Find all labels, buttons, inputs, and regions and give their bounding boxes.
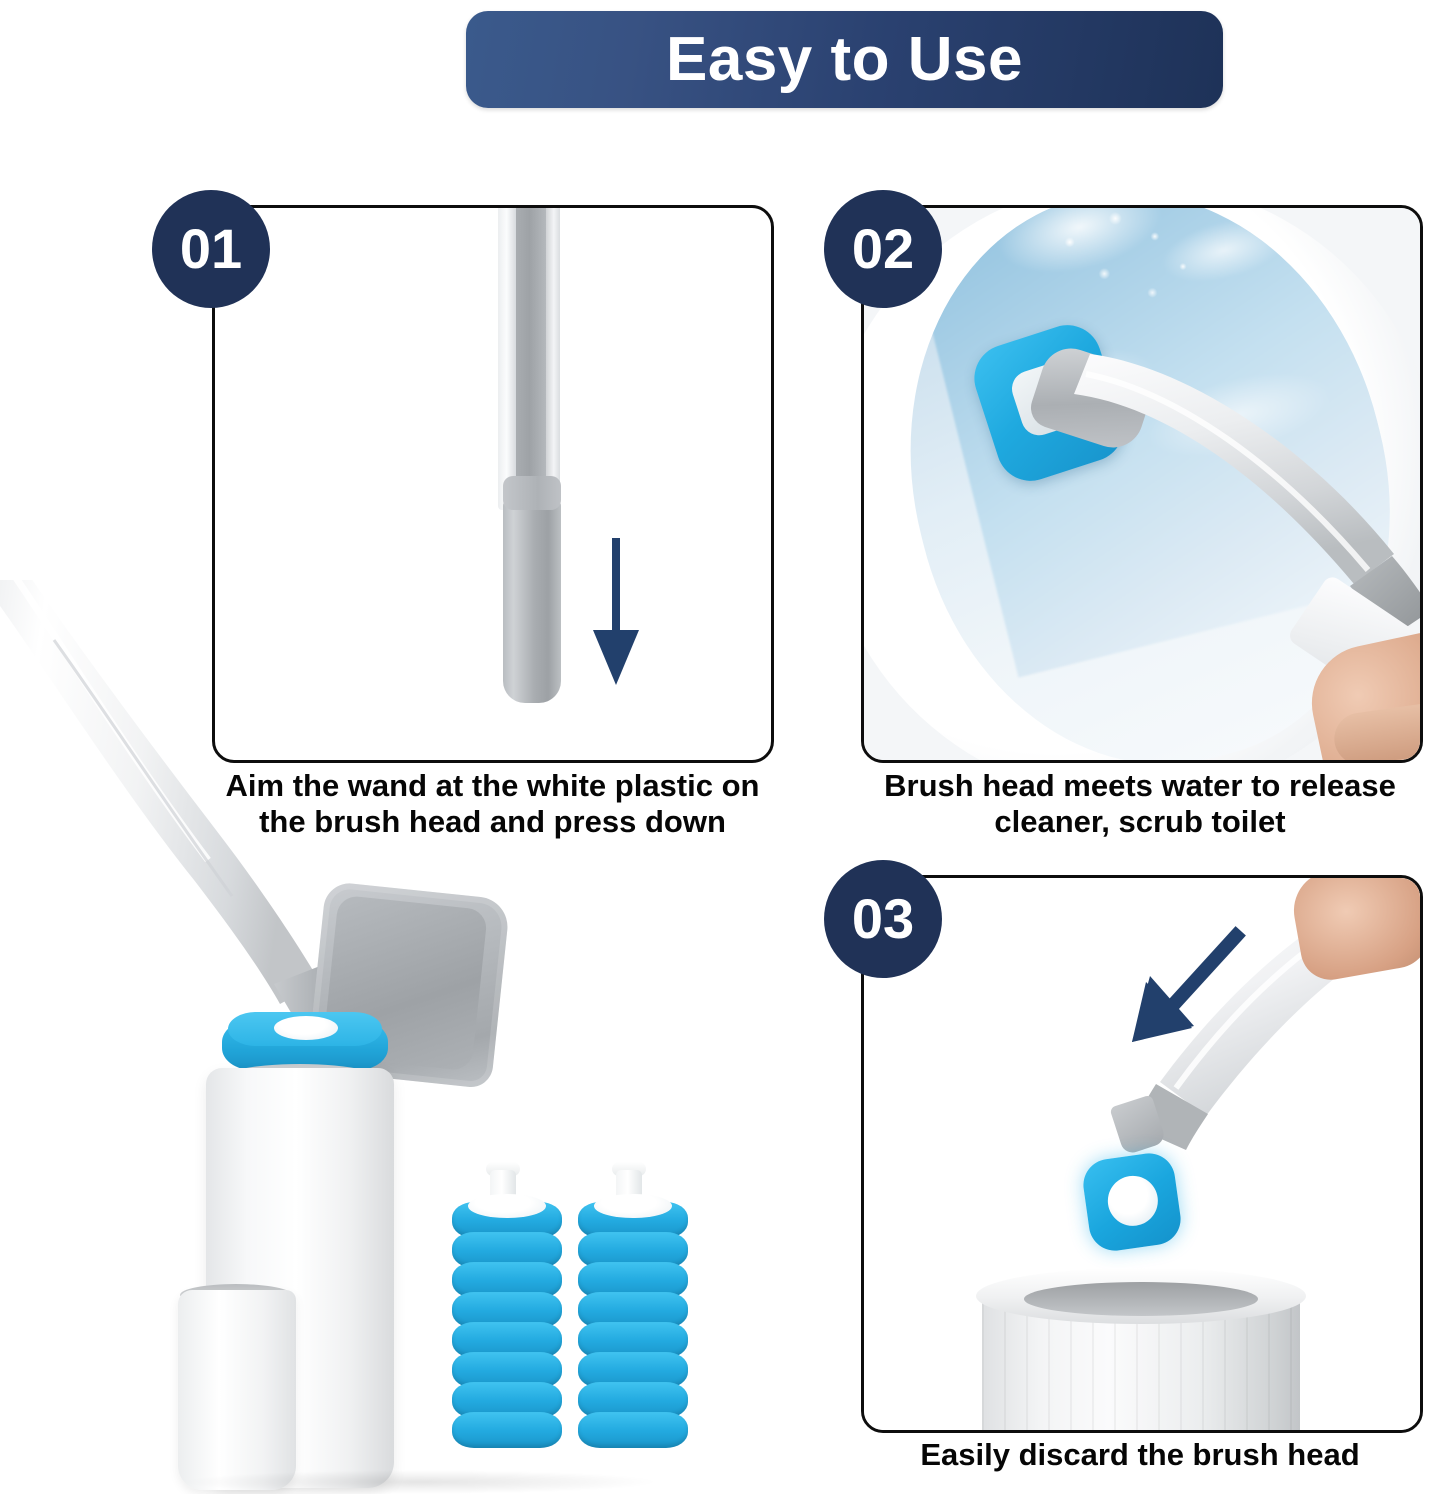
step-badge-2: 02 <box>824 190 942 308</box>
discarded-brush-head <box>1080 1150 1184 1254</box>
toilet-scene <box>864 208 1420 760</box>
wand-tip <box>503 498 561 703</box>
trash-can-opening <box>1024 1282 1258 1316</box>
step-badge-1: 01 <box>152 190 270 308</box>
header-banner: Easy to Use <box>466 11 1223 108</box>
trash-scene <box>864 878 1420 1430</box>
step-panel-2 <box>861 205 1423 763</box>
step-caption-2: Brush head meets water to release cleane… <box>855 768 1425 839</box>
step-panel-3 <box>861 875 1423 1433</box>
wand-shaft-core <box>516 205 546 506</box>
step-number-1: 01 <box>180 221 242 277</box>
step-number-3: 03 <box>852 891 914 947</box>
step-number-2: 02 <box>852 221 914 277</box>
down-arrow-icon <box>593 538 639 683</box>
step-panel-1 <box>212 205 774 763</box>
step-caption-1: Aim the wand at the white plastic on the… <box>200 768 785 839</box>
trash-can <box>982 1268 1300 1433</box>
page-title: Easy to Use <box>666 29 1023 91</box>
diagonal-down-arrow-icon <box>1116 926 1246 1056</box>
step-badge-3: 03 <box>824 860 942 978</box>
caddy-front-pocket <box>178 1290 296 1490</box>
step-caption-3: Easily discard the brush head <box>855 1437 1425 1473</box>
hero-drop-shadow <box>180 1470 660 1494</box>
